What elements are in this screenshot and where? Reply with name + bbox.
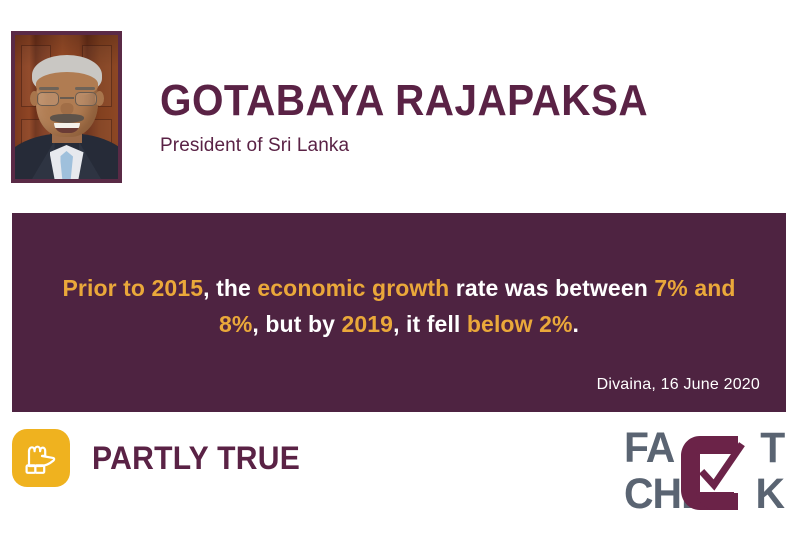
hand-partly-true-icon [12, 429, 70, 487]
portrait-tie [60, 151, 73, 179]
fact-check-card: GOTABAYA RAJAPAKSA President of Sri Lank… [0, 0, 800, 540]
portrait-lens-left [37, 92, 59, 106]
logo-text-k: K [755, 472, 784, 516]
logo-c-checkmark-icon [676, 430, 750, 516]
quote-highlight: below 2% [467, 311, 573, 337]
factcheck-logo: FA T CHE K [618, 424, 788, 520]
portrait-mustache [50, 114, 84, 123]
quote-plain: , it fell [393, 311, 467, 337]
person-role: President of Sri Lanka [160, 135, 691, 157]
quote-source: Divaina, 16 June 2020 [597, 376, 760, 394]
portrait-frame [11, 31, 122, 183]
logo-text-fa: FA [624, 426, 674, 470]
quote-plain: . [573, 311, 580, 337]
quote-highlight: 2019 [341, 311, 393, 337]
status-badge: PARTLY TRUE [92, 440, 300, 477]
avatar [15, 35, 118, 179]
verdict-block: PARTLY TRUE [12, 429, 313, 487]
name-block: GOTABAYA RAJAPAKSA President of Sri Lank… [160, 78, 691, 157]
quote-plain: , the [203, 275, 257, 301]
header: GOTABAYA RAJAPAKSA President of Sri Lank… [0, 0, 800, 205]
quote-plain: rate was between [449, 275, 654, 301]
quote-banner: Prior to 2015, the economic growth rate … [12, 213, 786, 412]
quote-highlight: Prior to 2015 [62, 275, 203, 301]
logo-text-t: T [760, 426, 784, 470]
portrait-lens-right [75, 92, 97, 106]
quote-plain: , but by [252, 311, 341, 337]
quote-highlight: economic growth [257, 275, 449, 301]
page-title: GOTABAYA RAJAPAKSA [160, 78, 648, 124]
portrait-glasses-bridge [60, 97, 74, 99]
quote-highlight: 7% [654, 275, 687, 301]
portrait-teeth [54, 123, 80, 128]
portrait-eyebrow-left [39, 87, 59, 90]
portrait-eyebrow-right [75, 87, 95, 90]
quote-text: Prior to 2015, the economic growth rate … [58, 270, 740, 342]
